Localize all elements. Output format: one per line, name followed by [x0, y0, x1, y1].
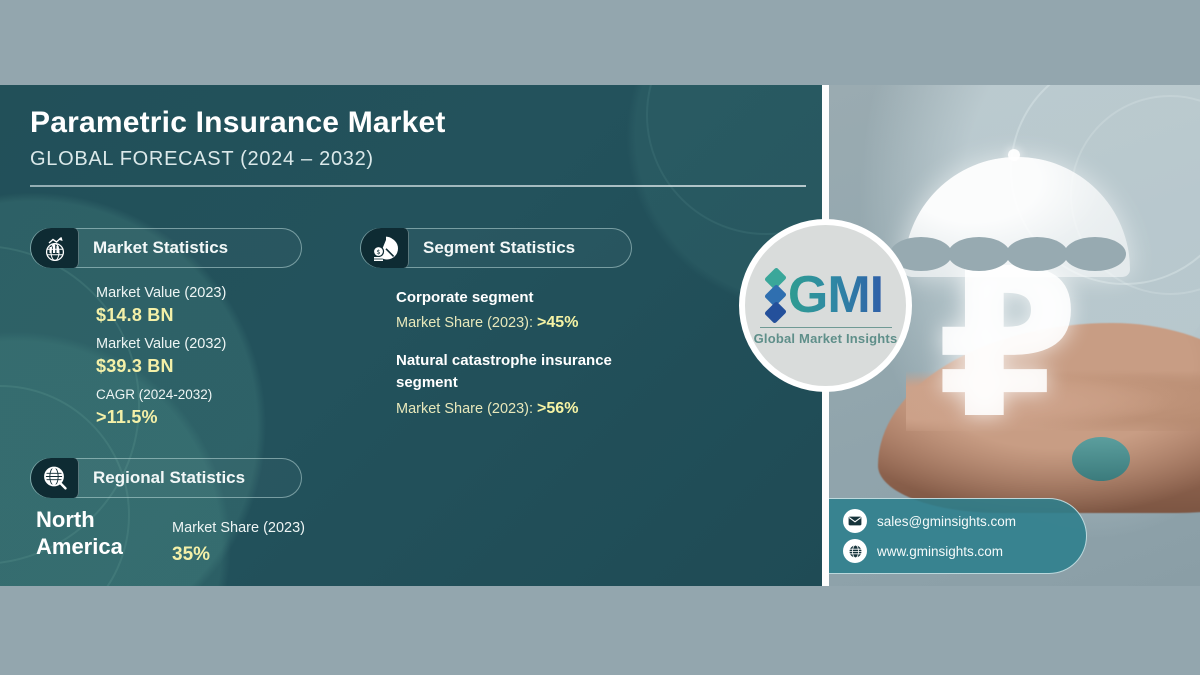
page-title: Parametric Insurance Market — [30, 106, 446, 140]
svg-text:$: $ — [376, 248, 380, 256]
contact-panel: sales@gminsights.com www.gminsights.com — [829, 498, 1087, 574]
market-value-2023-label: Market Value (2023) — [96, 285, 226, 301]
gmi-logo-rule — [760, 327, 892, 328]
contact-email: sales@gminsights.com — [877, 514, 1016, 529]
segment-1-share: Market Share (2023): >45% — [396, 314, 578, 332]
umbrella-currency-artwork: ₽ — [888, 145, 1138, 475]
globe-magnifier-icon — [31, 458, 79, 498]
gmi-logo: GMI Global Market Insights — [739, 219, 912, 392]
segment-2-share: Market Share (2023): >56% — [396, 400, 578, 418]
envelope-icon — [843, 509, 867, 533]
contact-website: www.gminsights.com — [877, 544, 1003, 559]
region-share-value: 35% — [172, 544, 210, 566]
section-label: Market Statistics — [79, 238, 248, 258]
gmi-logo-mark: GMI — [768, 265, 883, 325]
region-name: North America — [36, 506, 166, 560]
section-header-regional-statistics: Regional Statistics — [30, 458, 302, 498]
gmi-logo-text: GMI — [788, 265, 883, 325]
section-header-segment-statistics: $ Segment Statistics — [360, 228, 632, 268]
contact-email-row[interactable]: sales@gminsights.com — [843, 509, 1086, 533]
segment-2-share-label: Market Share (2023): — [396, 401, 537, 417]
page-subtitle: GLOBAL FORECAST (2024 – 2032) — [30, 148, 374, 171]
left-content-panel: Parametric Insurance Market GLOBAL FOREC… — [0, 85, 826, 586]
section-label: Segment Statistics — [409, 238, 595, 258]
segment-1-share-value: >45% — [537, 314, 578, 331]
pie-chart-dollar-icon: $ — [361, 228, 409, 268]
market-value-2023-value: $14.8 BN — [96, 305, 174, 326]
gmi-logo-tagline: Global Market Insights — [754, 331, 898, 346]
header-divider — [30, 185, 806, 187]
letterbox-bottom — [0, 586, 1200, 675]
segment-2-name: Natural catastrophe insurance segment — [396, 350, 656, 394]
cagr-value: >11.5% — [96, 407, 158, 428]
segment-1-name: Corporate segment — [396, 289, 534, 306]
infographic-banner: Parametric Insurance Market GLOBAL FOREC… — [0, 0, 1200, 675]
gmi-diamonds-icon — [768, 271, 783, 320]
section-label: Regional Statistics — [79, 468, 265, 488]
segment-2-share-value: >56% — [537, 400, 578, 417]
letterbox-top — [0, 0, 1200, 85]
market-value-2032-label: Market Value (2032) — [96, 336, 226, 352]
umbrella-scallops — [904, 253, 1130, 283]
contact-website-row[interactable]: www.gminsights.com — [843, 539, 1086, 563]
section-header-market-statistics: Market Statistics — [30, 228, 302, 268]
market-value-2032-value: $39.3 BN — [96, 356, 174, 377]
segment-1-share-label: Market Share (2023): — [396, 315, 537, 331]
umbrella-knob — [1008, 149, 1020, 161]
chart-globe-icon — [31, 228, 79, 268]
wrist-band — [1072, 437, 1130, 481]
cagr-label: CAGR (2024-2032) — [96, 387, 212, 402]
region-share-label: Market Share (2023) — [172, 520, 305, 536]
globe-icon — [843, 539, 867, 563]
banner-band: Parametric Insurance Market GLOBAL FOREC… — [0, 85, 1200, 586]
